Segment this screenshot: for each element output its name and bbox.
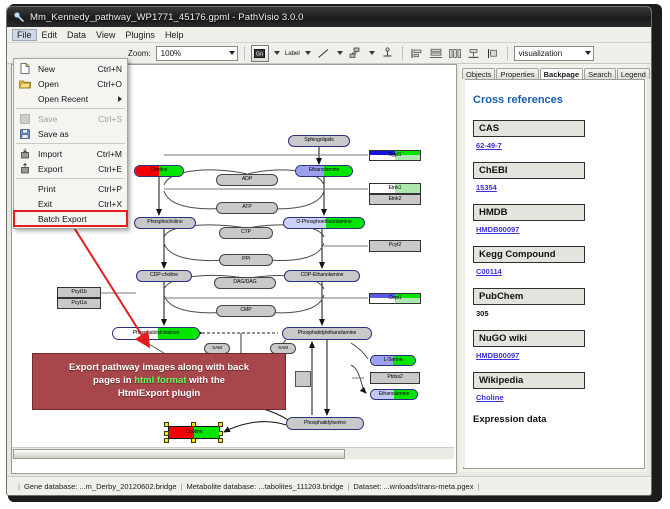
file-menu-label: Save as bbox=[32, 129, 122, 139]
export-icon bbox=[17, 162, 32, 175]
file-menu-item-print[interactable]: Print Ctrl+P bbox=[14, 181, 127, 196]
file-menu-label: New bbox=[32, 64, 98, 74]
menu-edit[interactable]: Edit bbox=[37, 29, 63, 41]
annotation-line1: Export pathway images along with back bbox=[69, 362, 249, 373]
file-menu-item-exit[interactable]: Exit Ctrl+X bbox=[14, 196, 127, 211]
status-metabolite-database: Metabolite database: ...tabolites_111203… bbox=[187, 482, 344, 491]
align-left-icon[interactable] bbox=[409, 46, 425, 61]
chevron-down-icon[interactable] bbox=[337, 51, 343, 55]
svg-text:Gn: Gn bbox=[256, 51, 263, 57]
side-panel-divider[interactable] bbox=[459, 79, 465, 467]
xref-header-nugo: NuGO wiki bbox=[473, 330, 585, 347]
visualization-value: visualization bbox=[519, 49, 563, 58]
file-menu-separator bbox=[16, 178, 125, 179]
screenshot-root: Mm_Kennedy_pathway_WP1771_45176.gpml - P… bbox=[0, 0, 670, 509]
annotation-highlight: html format bbox=[134, 375, 186, 386]
file-menu-accel: Ctrl+E bbox=[98, 164, 124, 174]
file-menu-dropdown[interactable]: New Ctrl+N Open Ctrl+O Open Recent bbox=[13, 58, 128, 229]
file-menu-accel: Ctrl+N bbox=[98, 64, 124, 74]
stack-icon[interactable] bbox=[466, 46, 482, 61]
xref-link-hmdb[interactable]: HMDB00097 bbox=[476, 225, 519, 234]
xref-link-chebi[interactable]: 15354 bbox=[476, 183, 497, 192]
menu-bar[interactable]: File Edit Data View Plugins Help bbox=[7, 27, 651, 43]
chevron-down-icon bbox=[229, 51, 235, 55]
visualization-combobox[interactable]: visualization bbox=[514, 46, 594, 61]
pathway-anchor-block[interactable] bbox=[295, 371, 311, 387]
xref-header-cas: CAS bbox=[473, 120, 585, 137]
file-menu-label: Import bbox=[32, 149, 97, 159]
file-menu-label: Open bbox=[32, 79, 97, 89]
save-as-icon bbox=[17, 127, 32, 140]
new-document-icon bbox=[17, 62, 32, 75]
file-menu-item-open[interactable]: Open Ctrl+O bbox=[14, 76, 127, 91]
file-menu-item-batch-export[interactable]: Batch Export bbox=[14, 211, 127, 226]
window-title: Mm_Kennedy_pathway_WP1771_45176.gpml - P… bbox=[30, 12, 304, 23]
file-menu-item-export[interactable]: Export Ctrl+E bbox=[14, 161, 127, 176]
file-menu-item-save: Save Ctrl+S bbox=[14, 111, 127, 126]
backpage-panel[interactable]: Cross references CAS 62-49-7 ChEBI 15354… bbox=[463, 79, 645, 469]
save-icon bbox=[17, 112, 32, 125]
xref-value-pubchem: 305 bbox=[476, 309, 635, 318]
file-menu-item-new[interactable]: New Ctrl+N bbox=[14, 61, 127, 76]
group-icon[interactable] bbox=[485, 46, 501, 61]
menu-help[interactable]: Help bbox=[160, 29, 189, 41]
annotation-callout: Export pathway images along with back pa… bbox=[32, 353, 286, 410]
cross-references-heading: Cross references bbox=[473, 94, 635, 106]
tab-legend[interactable]: Legend bbox=[617, 68, 650, 80]
xref-value-hmdb[interactable]: HMDB00097 bbox=[476, 225, 635, 234]
file-menu-label: Batch Export bbox=[32, 214, 122, 224]
align-center-icon[interactable] bbox=[428, 46, 444, 61]
file-menu-item-import[interactable]: Import Ctrl+M bbox=[14, 146, 127, 161]
status-gene-database: Gene database: ...m_Derby_20120602.bridg… bbox=[24, 482, 177, 491]
file-menu-accel: Ctrl+P bbox=[98, 184, 124, 194]
line-icon[interactable] bbox=[316, 46, 332, 61]
blank-icon bbox=[17, 92, 32, 105]
anchor-icon[interactable] bbox=[380, 46, 396, 61]
file-menu-label: Print bbox=[32, 184, 98, 194]
xref-value-cas[interactable]: 62-49-7 bbox=[476, 141, 635, 150]
xref-value-wikipedia[interactable]: Choline bbox=[476, 393, 635, 402]
side-panel: Objects Properties Backpage Search Legen… bbox=[459, 64, 647, 472]
blank-icon bbox=[17, 197, 32, 210]
status-separator: | bbox=[181, 482, 183, 491]
xref-link-wikipedia[interactable]: Choline bbox=[476, 393, 504, 402]
tab-search[interactable]: Search bbox=[584, 68, 616, 80]
file-menu-item-save-as[interactable]: Save as bbox=[14, 126, 127, 141]
toolbar-separator bbox=[244, 46, 245, 60]
backpage-content: Cross references CAS 62-49-7 ChEBI 15354… bbox=[464, 80, 644, 425]
xref-header-pubchem: PubChem bbox=[473, 288, 585, 305]
annotation-line2-b: with the bbox=[186, 375, 225, 386]
toolbar-separator bbox=[402, 46, 403, 60]
xref-link-kegg[interactable]: C00114 bbox=[476, 267, 502, 276]
tab-objects[interactable]: Objects bbox=[462, 68, 495, 80]
file-menu-label: Export bbox=[32, 164, 98, 174]
toolbar-separator bbox=[507, 46, 508, 60]
status-separator: | bbox=[477, 482, 479, 491]
chevron-down-icon bbox=[585, 51, 591, 55]
chevron-down-icon[interactable] bbox=[369, 51, 375, 55]
xref-link-cas[interactable]: 62-49-7 bbox=[476, 141, 502, 150]
file-menu-item-open-recent[interactable]: Open Recent bbox=[14, 91, 127, 106]
distribute-icon[interactable] bbox=[447, 46, 463, 61]
blank-icon bbox=[17, 182, 32, 195]
file-menu-accel: Ctrl+O bbox=[97, 79, 124, 89]
xref-value-kegg[interactable]: C00114 bbox=[476, 267, 635, 276]
status-dataset: Dataset: ...wnloads\trans-meta.pgex bbox=[353, 482, 473, 491]
xref-header-chebi: ChEBI bbox=[473, 162, 585, 179]
file-menu-label: Exit bbox=[32, 199, 98, 209]
title-bar: Mm_Kennedy_pathway_WP1771_45176.gpml - P… bbox=[7, 7, 651, 27]
menu-view[interactable]: View bbox=[91, 29, 120, 41]
zoom-label: Zoom: bbox=[128, 49, 151, 58]
status-bar: | Gene database: ...m_Derby_20120602.bri… bbox=[7, 476, 652, 495]
xref-value-nugo[interactable]: HMDB00097 bbox=[476, 351, 635, 360]
xref-header-kegg: Kegg Compound bbox=[473, 246, 585, 263]
status-separator: | bbox=[347, 482, 349, 491]
file-menu-accel: Ctrl+M bbox=[97, 149, 124, 159]
chevron-down-icon[interactable] bbox=[274, 51, 280, 55]
pathvisio-window: Mm_Kennedy_pathway_WP1771_45176.gpml - P… bbox=[6, 6, 652, 496]
menu-data[interactable]: Data bbox=[62, 29, 91, 41]
tab-properties[interactable]: Properties bbox=[496, 68, 538, 80]
xref-value-chebi[interactable]: 15354 bbox=[476, 183, 635, 192]
file-menu-label: Open Recent bbox=[32, 94, 118, 104]
import-icon bbox=[17, 147, 32, 160]
gpml-shape-icon[interactable]: Gn bbox=[251, 45, 269, 62]
file-menu-accel: Ctrl+S bbox=[98, 114, 124, 124]
file-menu-separator bbox=[16, 108, 125, 109]
zoom-value: 100% bbox=[161, 49, 181, 58]
menu-file[interactable]: File bbox=[12, 29, 37, 41]
annotation-text: Export pathway images along with back pa… bbox=[63, 362, 255, 400]
xref-header-hmdb: HMDB bbox=[473, 204, 585, 221]
annotation-line3: HtmlExport plugin bbox=[118, 388, 200, 399]
interaction-icon[interactable] bbox=[348, 46, 364, 61]
menu-plugins[interactable]: Plugins bbox=[120, 29, 160, 41]
file-menu-separator bbox=[16, 143, 125, 144]
label-button[interactable]: Label bbox=[285, 50, 300, 57]
side-panel-tabs[interactable]: Objects Properties Backpage Search Legen… bbox=[459, 64, 647, 79]
expression-data-heading: Expression data bbox=[473, 414, 635, 425]
blank-icon bbox=[17, 212, 32, 225]
annotation-line2-a: pages in bbox=[93, 375, 134, 386]
chevron-down-icon[interactable] bbox=[305, 51, 311, 55]
file-menu-label: Save bbox=[32, 114, 98, 124]
xref-header-wikipedia: Wikipedia bbox=[473, 372, 585, 389]
xref-link-nugo[interactable]: HMDB00097 bbox=[476, 351, 519, 360]
zoom-combobox[interactable]: 100% bbox=[156, 46, 238, 61]
status-separator: | bbox=[18, 482, 20, 491]
file-menu-accel: Ctrl+X bbox=[98, 199, 124, 209]
pathvisio-icon bbox=[13, 11, 25, 23]
chevron-right-icon bbox=[118, 96, 122, 102]
folder-open-icon bbox=[17, 77, 32, 90]
